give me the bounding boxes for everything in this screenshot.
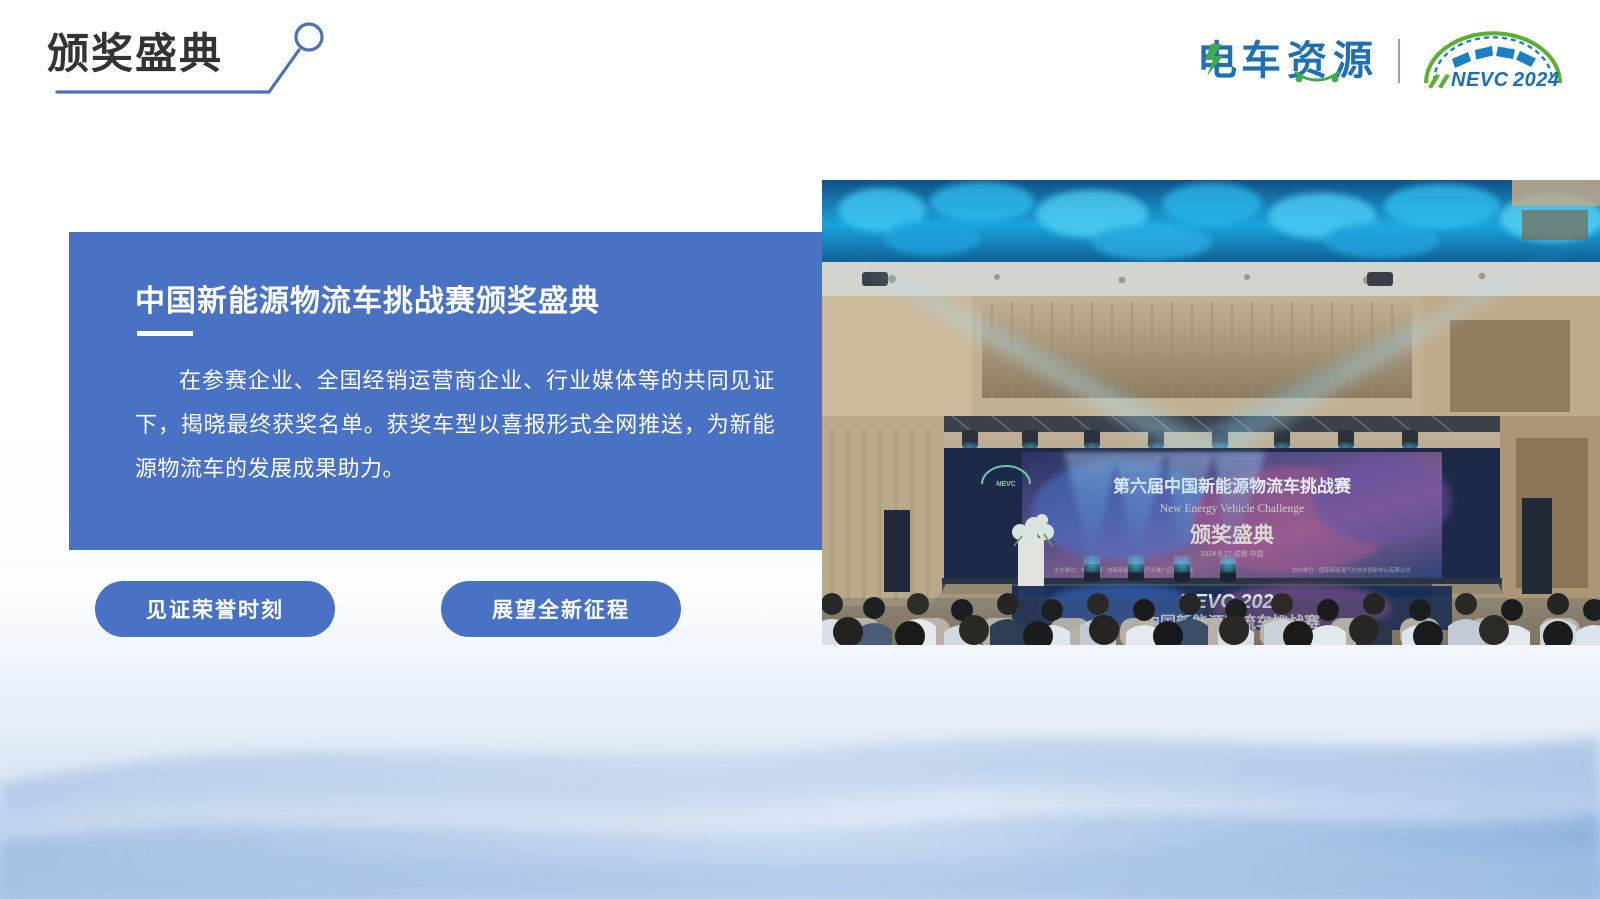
dianche-ziyuan-logo-icon: 电 车 资 源 bbox=[1195, 30, 1380, 92]
action-button-row: 见证荣誉时刻 展望全新征程 bbox=[95, 581, 681, 637]
brand-divider bbox=[1398, 39, 1400, 83]
ceremony-photo: 第六届中国新能源物流车挑战赛 New Energy Vehicle Challe… bbox=[822, 180, 1600, 645]
panel-title: 中国新能源物流车挑战赛颁奖盛典 bbox=[135, 276, 600, 320]
svg-text:资: 资 bbox=[1287, 39, 1327, 83]
witness-honor-button[interactable]: 见证荣誉时刻 bbox=[95, 581, 335, 637]
panel-title-underline bbox=[137, 331, 193, 336]
svg-text:NEVC: NEVC bbox=[1451, 69, 1509, 91]
svg-text:车: 车 bbox=[1241, 39, 1281, 83]
nevc-2024-logo-icon: NEVC 2024 bbox=[1418, 31, 1568, 91]
svg-text:源: 源 bbox=[1333, 39, 1373, 83]
new-journey-button[interactable]: 展望全新征程 bbox=[441, 581, 681, 637]
brand-logos: 电 车 资 源 NEVC 2024 bbox=[1195, 30, 1568, 92]
ceremony-photo-illustration: 第六届中国新能源物流车挑战赛 New Energy Vehicle Challe… bbox=[822, 180, 1600, 645]
content-panel: 中国新能源物流车挑战赛颁奖盛典 在参赛企业、全国经销运营商企业、行业媒体等的共同… bbox=[69, 232, 841, 550]
svg-text:2024: 2024 bbox=[1512, 69, 1560, 91]
dianche-ziyuan-logo: 电 车 资 源 bbox=[1195, 30, 1380, 92]
page-title: 颁奖盛典 bbox=[47, 28, 223, 80]
panel-body-text: 在参赛企业、全国经销运营商企业、行业媒体等的共同见证下，揭晓最终获奖名单。获奖车… bbox=[135, 359, 775, 491]
